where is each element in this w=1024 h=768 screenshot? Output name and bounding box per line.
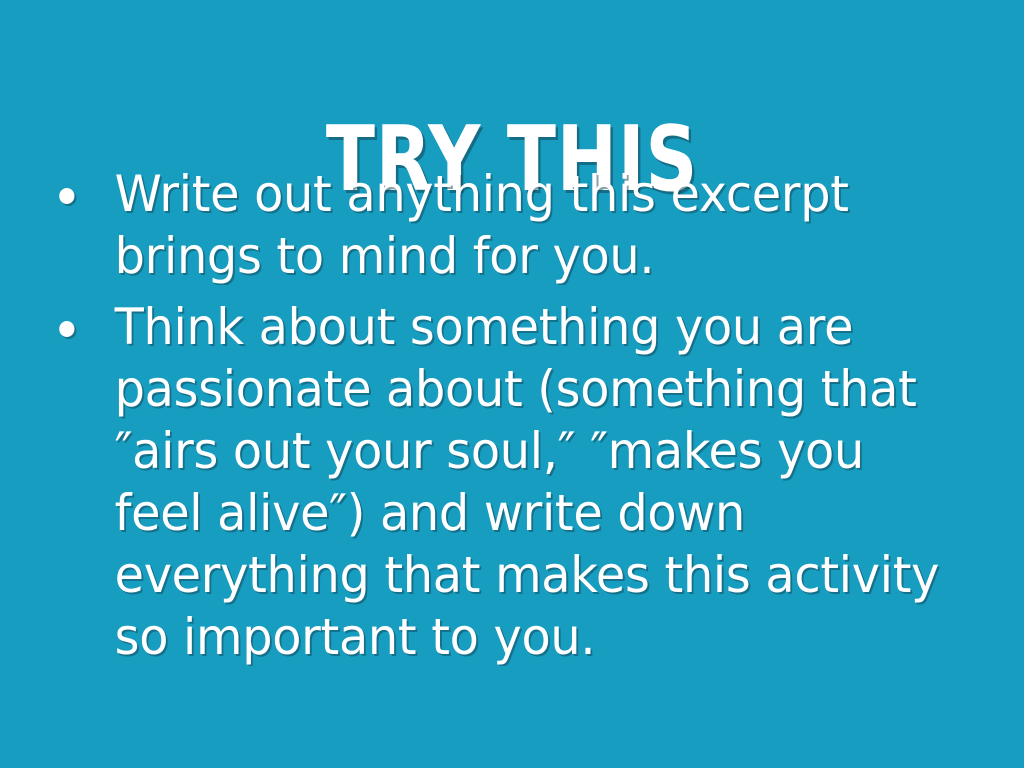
bullet-dot-icon [59, 188, 74, 204]
bullet-dot-icon [59, 321, 74, 337]
list-item: Write out anything this excerpt brings t… [0, 163, 978, 287]
presentation-slide: TRY THIS Write out anything this excerpt… [0, 0, 1024, 768]
list-item-text: Write out anything this excerpt brings t… [115, 163, 955, 287]
list-item-text: Think about something you are passionate… [115, 296, 955, 668]
list-item: Think about something you are passionate… [0, 296, 978, 668]
bullet-list: Write out anything this excerpt brings t… [0, 163, 1024, 677]
